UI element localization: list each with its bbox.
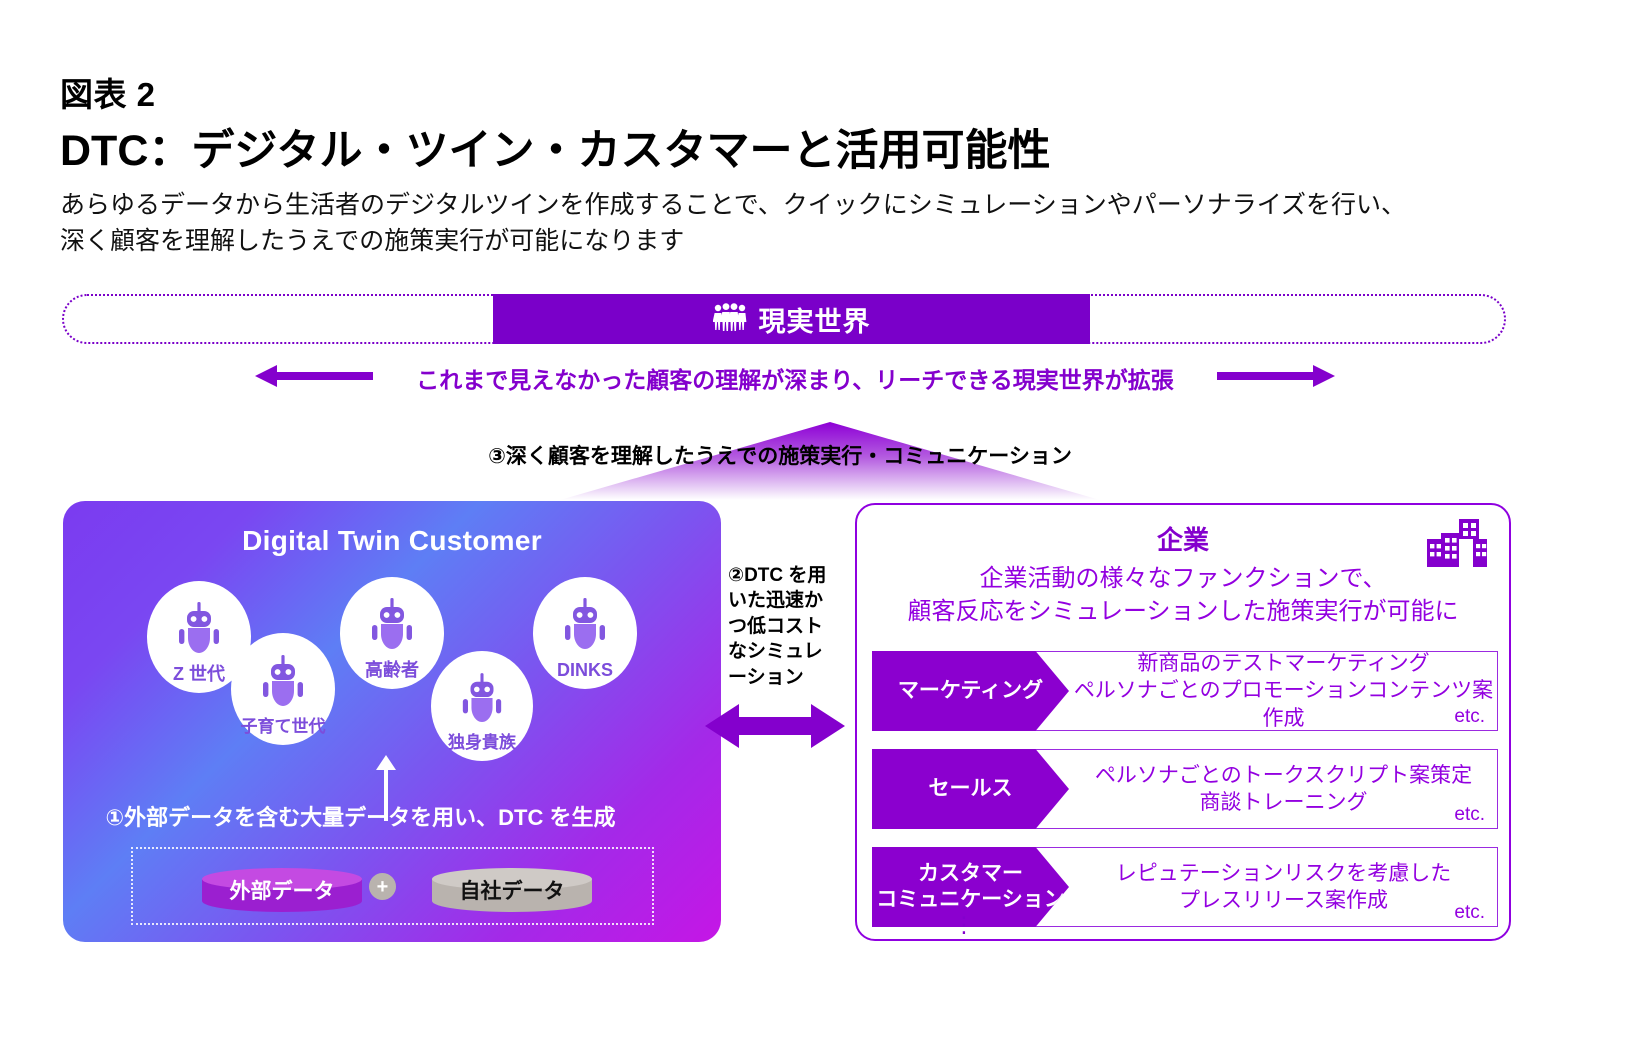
- real-world-label: 現実世界: [759, 300, 871, 339]
- double-arrow-icon: [705, 700, 845, 757]
- lead-line-2: 深く顧客を理解したうえでの施策実行が可能になります: [60, 224, 1540, 260]
- figure-number: 図表 2: [60, 68, 156, 116]
- function-items: 新商品のテストマーケティング ペルソナごとのプロモーションコンテンツ案作成: [1070, 652, 1497, 730]
- persona-label: DINKS: [557, 661, 613, 679]
- note-1: ①外部データを含む大量データを用い、DTC を生成: [0, 800, 721, 832]
- page-title: DTC：デジタル・ツイン・カスタマーと活用可能性: [60, 116, 1051, 178]
- function-items: レピュテーションリスクを考慮した プレスリリース案作成: [1070, 848, 1497, 926]
- persona-label: Z 世代: [173, 665, 225, 683]
- arrow-right-icon: [1217, 363, 1335, 394]
- plus-badge: +: [369, 873, 396, 900]
- database-label: 外部データ: [230, 875, 335, 905]
- infographic-canvas: 図表 2 DTC：デジタル・ツイン・カスタマーと活用可能性 あらゆるデータから生…: [0, 0, 1631, 1058]
- function-item: レピュテーションリスクを考慮した: [1116, 860, 1452, 887]
- persona-label: 高齢者: [365, 661, 419, 679]
- corporate-title: 企業: [857, 520, 1509, 557]
- people-icon: [713, 303, 747, 336]
- persona-label: 子育て世代: [241, 718, 326, 735]
- corporate-subtitle-line-1: 企業活動の様々なファンクションで、: [857, 563, 1509, 596]
- database-label: 自社データ: [460, 875, 565, 905]
- function-etc: etc.: [1454, 902, 1485, 924]
- function-items: ペルソナごとのトークスクリプト案策定 商談トレーニング: [1070, 750, 1497, 828]
- persona-bubble-koureisha[interactable]: 高齢者: [340, 577, 444, 689]
- dtc-panel-title: Digital Twin Customer: [63, 525, 721, 557]
- arrow-left-icon: [255, 363, 373, 394]
- persona-bubble-kosodate[interactable]: 子育て世代: [231, 633, 335, 745]
- expansion-text: これまで見えなかった顧客の理解が深まり、リーチできる現実世界が拡張: [416, 361, 1174, 395]
- function-item: ペルソナごとのプロモーションコンテンツ案作成: [1070, 677, 1497, 732]
- lead-paragraph: あらゆるデータから生活者のデジタルツインを作成することで、クイックにシミュレーシ…: [60, 188, 1540, 259]
- robot-icon: [368, 598, 416, 655]
- robot-icon: [561, 598, 609, 655]
- function-tag-line-1: カスタマー: [876, 861, 1065, 887]
- expansion-row: これまで見えなかった顧客の理解が深まり、リーチできる現実世界が拡張: [255, 360, 1335, 396]
- persona-label: 独身貴族: [448, 734, 516, 751]
- database-external[interactable]: 外部データ: [202, 868, 362, 912]
- robot-icon: [459, 673, 505, 728]
- function-row-marketing[interactable]: マーケティング 新商品のテストマーケティング ペルソナごとのプロモーションコンテ…: [872, 651, 1498, 731]
- corporate-subtitle: 企業活動の様々なファンクションで、 顧客反応をシミュレーションした施策実行が可能…: [857, 563, 1509, 628]
- function-item: 商談トレーニング: [1200, 789, 1368, 816]
- function-tag-line-2: コミュニケーション: [876, 887, 1065, 913]
- robot-icon: [175, 602, 223, 659]
- function-item: 新商品のテストマーケティング: [1137, 650, 1429, 677]
- function-tag: セールス: [872, 749, 1069, 829]
- function-etc: etc.: [1454, 804, 1485, 826]
- persona-bubble-dokushin[interactable]: 独身貴族: [431, 651, 533, 761]
- persona-bubble-dinks[interactable]: DINKS: [533, 577, 637, 689]
- function-tag: マーケティング: [872, 651, 1069, 731]
- corporate-subtitle-line-2: 顧客反応をシミュレーションした施策実行が可能に: [857, 596, 1509, 629]
- more-functions-indicator: ⋮: [953, 914, 977, 936]
- real-world-band: 現実世界: [493, 294, 1090, 344]
- function-row-sales[interactable]: セールス ペルソナごとのトークスクリプト案策定 商談トレーニング etc.: [872, 749, 1498, 829]
- corporate-panel: 企業: [855, 503, 1511, 941]
- note-3: ③深く顧客を理解したうえでの施策実行・コミュニケーション: [470, 440, 1090, 470]
- robot-icon: [259, 655, 307, 712]
- lead-line-1: あらゆるデータから生活者のデジタルツインを作成することで、クイックにシミュレーシ…: [60, 188, 1540, 224]
- function-item: プレスリリース案作成: [1179, 887, 1388, 914]
- note-2: ②DTC を用いた迅速かつ低コストなシミュレーション: [728, 563, 840, 690]
- database-internal[interactable]: 自社データ: [432, 868, 592, 912]
- function-etc: etc.: [1454, 706, 1485, 728]
- function-item: ペルソナごとのトークスクリプト案策定: [1095, 762, 1472, 789]
